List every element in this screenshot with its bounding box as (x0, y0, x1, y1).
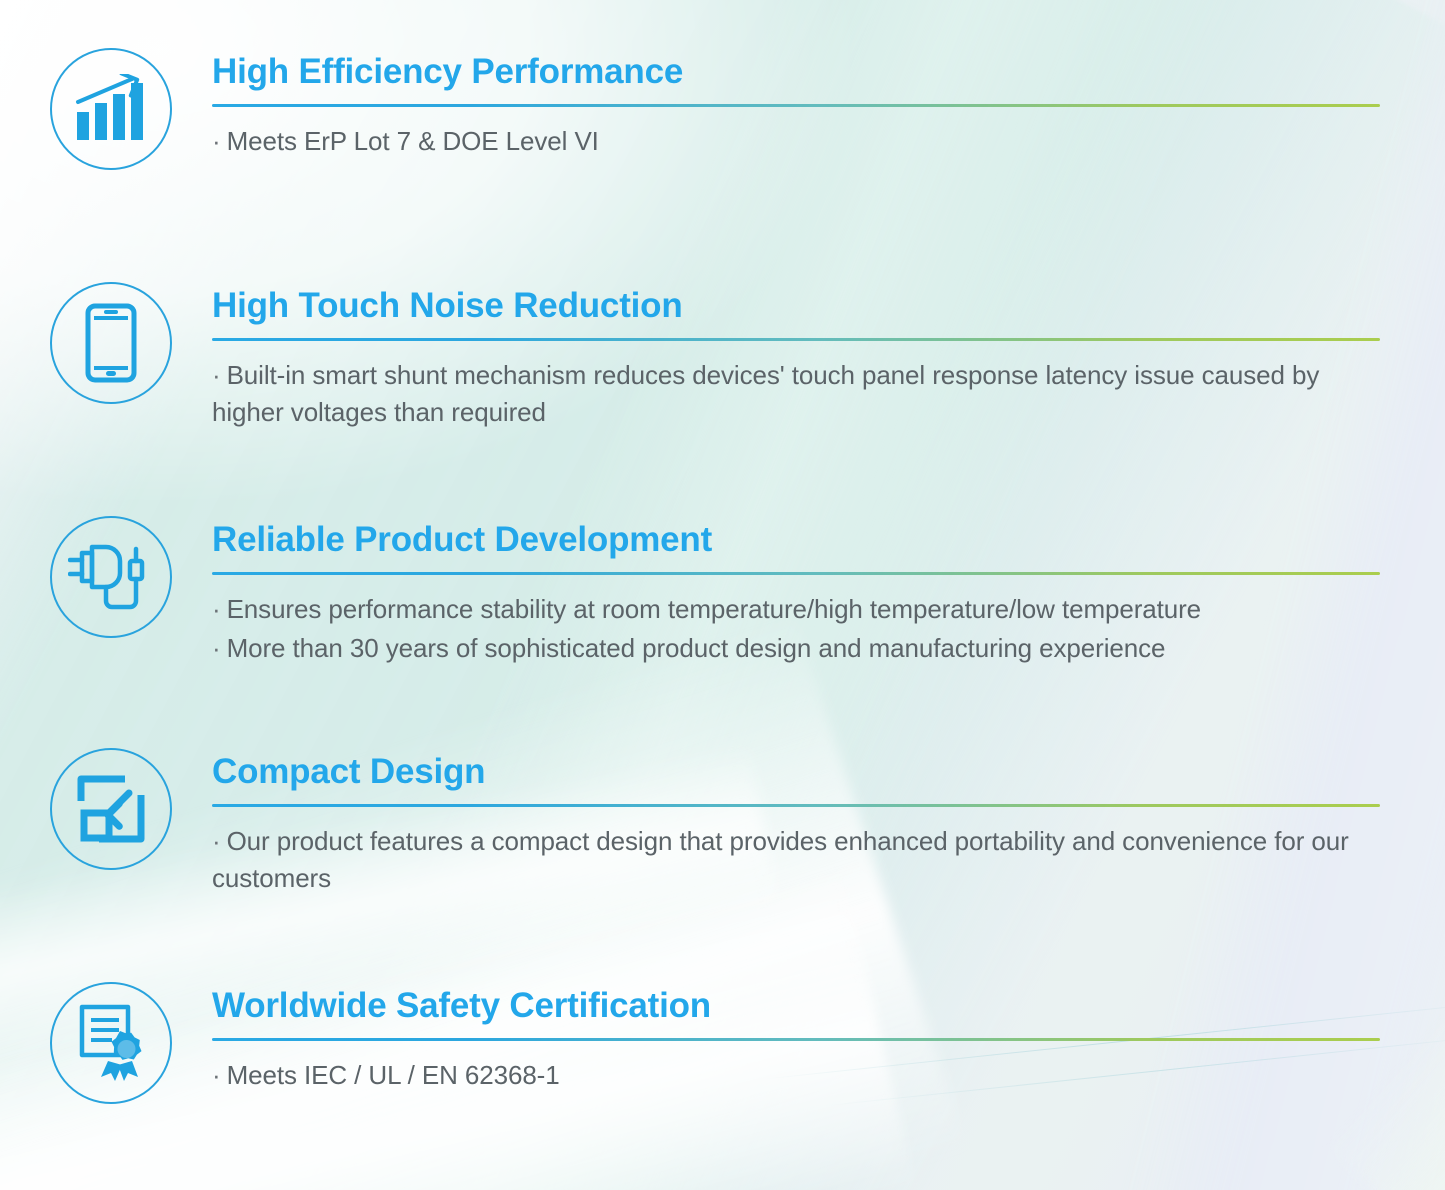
feature-item-compact-design: Compact Design ·Our product features a c… (50, 748, 1380, 897)
bullet-icon: · (212, 126, 221, 156)
feature-bullet: ·Ensures performance stability at room t… (212, 591, 1380, 628)
feature-title: Compact Design (212, 754, 1380, 791)
feature-body: High Efficiency Performance ·Meets ErP L… (212, 48, 1380, 160)
feature-bullet-text: Our product features a compact design th… (212, 826, 1349, 893)
bullet-icon: · (212, 1060, 221, 1090)
feature-divider (212, 104, 1380, 107)
feature-bullet-text: Meets ErP Lot 7 & DOE Level VI (227, 126, 599, 156)
certificate-award-icon (50, 982, 172, 1104)
feature-body: Worldwide Safety Certification ·Meets IE… (212, 982, 1380, 1094)
feature-body: Compact Design ·Our product features a c… (212, 748, 1380, 897)
feature-bullet-text: Built-in smart shunt mechanism reduces d… (212, 360, 1319, 427)
feature-divider (212, 804, 1380, 807)
feature-bullet-text: Meets IEC / UL / EN 62368-1 (227, 1060, 560, 1090)
bullet-icon: · (212, 826, 221, 856)
feature-bullet-list: ·Meets ErP Lot 7 & DOE Level VI (212, 123, 1380, 160)
feature-bullet: ·Built-in smart shunt mechanism reduces … (212, 357, 1380, 431)
feature-divider (212, 1038, 1380, 1041)
feature-bullet-text: More than 30 years of sophisticated prod… (227, 633, 1166, 663)
feature-title: High Efficiency Performance (212, 54, 1380, 91)
feature-item-high-touch-noise-reduction: High Touch Noise Reduction ·Built-in sma… (50, 282, 1380, 431)
feature-divider (212, 338, 1380, 341)
feature-bullet-list: ·Built-in smart shunt mechanism reduces … (212, 357, 1380, 431)
feature-divider (212, 572, 1380, 575)
feature-bullet: ·Meets ErP Lot 7 & DOE Level VI (212, 123, 1380, 160)
feature-item-reliable-product-development: Reliable Product Development ·Ensures pe… (50, 516, 1380, 667)
feature-item-high-efficiency-performance: High Efficiency Performance ·Meets ErP L… (50, 48, 1380, 170)
feature-bullet: ·Meets IEC / UL / EN 62368-1 (212, 1057, 1380, 1094)
feature-bullet-list: ·Our product features a compact design t… (212, 823, 1380, 897)
feature-bullet: ·Our product features a compact design t… (212, 823, 1380, 897)
bullet-icon: · (212, 594, 221, 624)
bullet-icon: · (212, 360, 221, 390)
power-adapter-icon (50, 516, 172, 638)
compact-shrink-icon (50, 748, 172, 870)
feature-bullet-list: ·Meets IEC / UL / EN 62368-1 (212, 1057, 1380, 1094)
feature-item-worldwide-safety-certification: Worldwide Safety Certification ·Meets IE… (50, 982, 1380, 1104)
feature-body: Reliable Product Development ·Ensures pe… (212, 516, 1380, 667)
bar-chart-growth-icon (50, 48, 172, 170)
feature-bullet-text: Ensures performance stability at room te… (227, 594, 1201, 624)
bullet-icon: · (212, 633, 221, 663)
feature-bullet: ·More than 30 years of sophisticated pro… (212, 630, 1380, 667)
feature-bullet-list: ·Ensures performance stability at room t… (212, 591, 1380, 667)
feature-body: High Touch Noise Reduction ·Built-in sma… (212, 282, 1380, 431)
feature-title: High Touch Noise Reduction (212, 288, 1380, 325)
feature-title: Reliable Product Development (212, 522, 1380, 559)
smartphone-icon (50, 282, 172, 404)
feature-highlights-page: High Efficiency Performance ·Meets ErP L… (0, 0, 1445, 1190)
feature-title: Worldwide Safety Certification (212, 988, 1380, 1025)
